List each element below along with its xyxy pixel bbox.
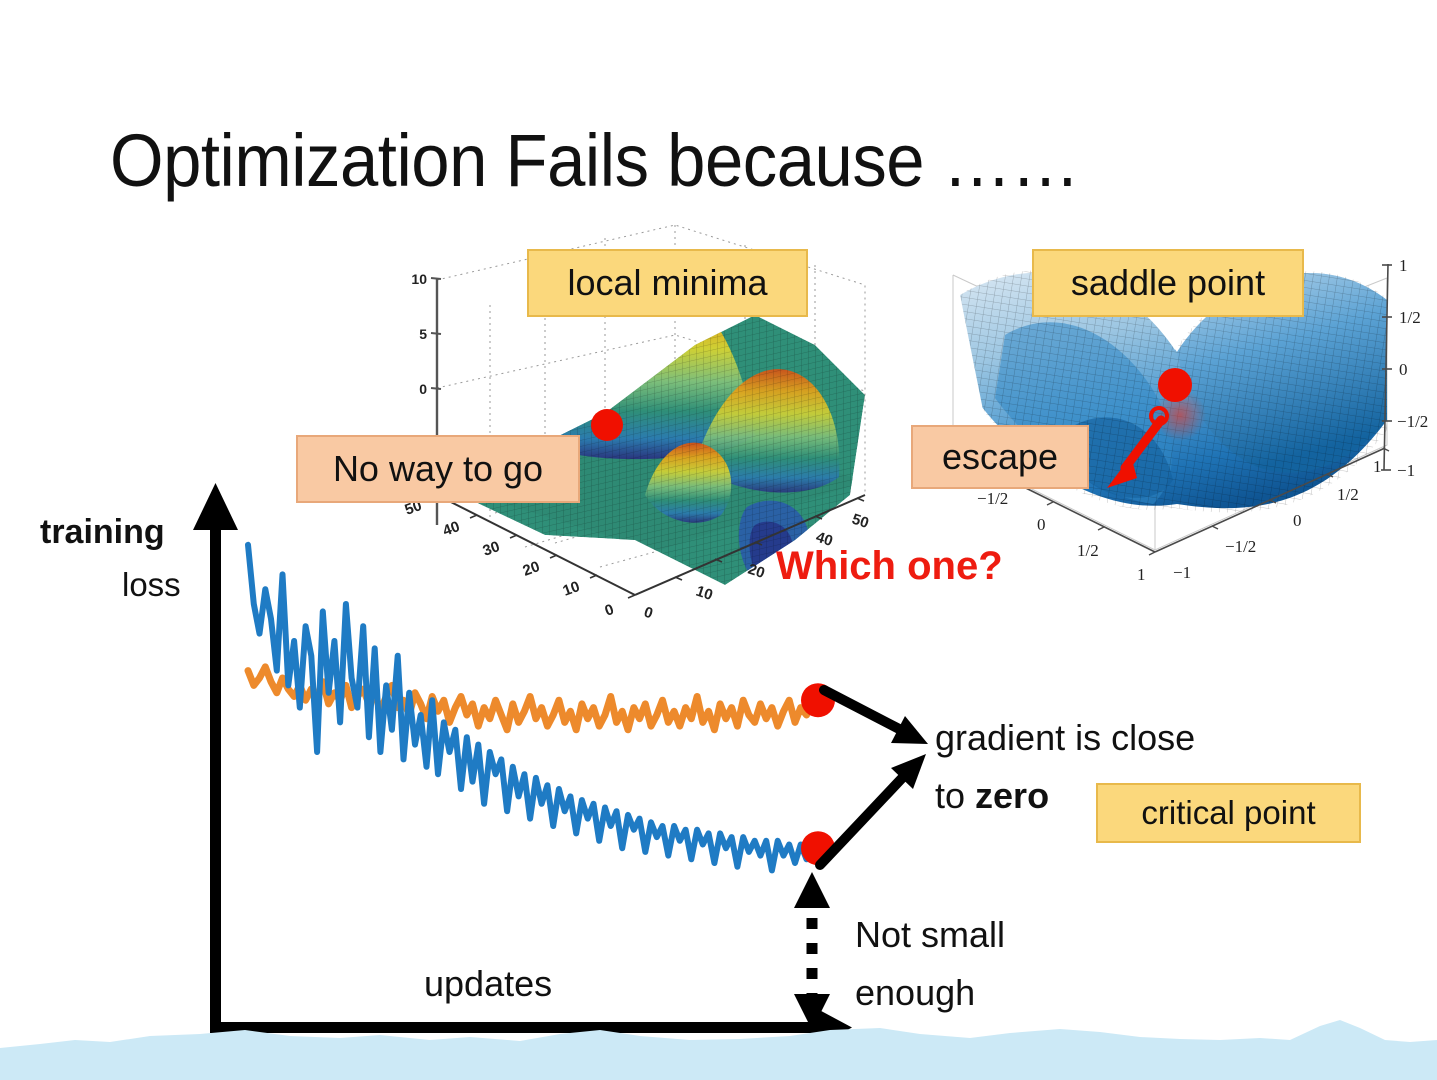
svg-text:20: 20 xyxy=(521,558,542,580)
y-axis-arrow xyxy=(193,483,238,1033)
svg-text:1: 1 xyxy=(1137,565,1146,584)
svg-text:−1: −1 xyxy=(1173,563,1191,582)
svg-text:−1/2: −1/2 xyxy=(1225,537,1256,556)
svg-text:0: 0 xyxy=(603,601,617,620)
x-axis-label-updates: updates xyxy=(424,963,552,1005)
callout-no-way-to-go: No way to go xyxy=(296,435,580,503)
svg-text:1/2: 1/2 xyxy=(1399,308,1421,327)
z-tick-labels: 1050 xyxy=(411,271,427,397)
svg-text:0: 0 xyxy=(419,381,427,397)
page-title: Optimization Fails because …… xyxy=(110,118,1245,203)
annotation-to-prefix: to xyxy=(935,775,975,816)
red-dot-marker xyxy=(1158,368,1192,402)
y-axis-label-training: training xyxy=(40,513,165,552)
svg-text:−1: −1 xyxy=(1397,461,1415,480)
critical-point-dot-orange xyxy=(801,683,835,717)
slide-canvas: Optimization Fails because …… xyxy=(0,0,1437,1080)
red-dot-marker xyxy=(591,409,623,441)
z-tick-labels: 1 1/2 0 −1/2 −1 xyxy=(1397,256,1428,480)
svg-text:1: 1 xyxy=(1399,256,1408,275)
annotation-not-small-line1: Not small xyxy=(855,914,1005,956)
annotation-arrow-orange xyxy=(824,690,928,744)
annotation-arrow-blue xyxy=(820,754,926,865)
svg-text:5: 5 xyxy=(419,326,427,342)
y-axis-label-loss: loss xyxy=(122,566,181,604)
svg-text:1: 1 xyxy=(1373,457,1382,476)
not-small-enough-arrow xyxy=(794,872,830,1030)
svg-text:40: 40 xyxy=(441,518,462,540)
svg-text:10: 10 xyxy=(561,578,582,600)
bottom-wave-decoration xyxy=(0,1020,1437,1080)
svg-text:1/2: 1/2 xyxy=(1337,485,1359,504)
svg-text:0: 0 xyxy=(642,604,655,623)
svg-text:10: 10 xyxy=(411,271,427,287)
annotation-gradient-line1: gradient is close xyxy=(935,717,1195,759)
callout-local-minima: local minima xyxy=(527,249,808,317)
loss-curve-orange xyxy=(248,667,818,730)
svg-text:0: 0 xyxy=(1037,515,1046,534)
annotation-not-small-line2: enough xyxy=(855,972,975,1014)
annotation-gradient-line2: to zero xyxy=(935,775,1049,817)
annotation-zero-bold: zero xyxy=(975,775,1049,816)
svg-text:10: 10 xyxy=(694,583,715,604)
svg-text:1/2: 1/2 xyxy=(1077,541,1099,560)
svg-text:−1/2: −1/2 xyxy=(1397,412,1428,431)
which-one-question: Which one? xyxy=(776,544,1003,589)
svg-text:30: 30 xyxy=(481,538,502,560)
callout-saddle-point: saddle point xyxy=(1032,249,1304,317)
callout-escape: escape xyxy=(911,425,1089,489)
svg-text:0: 0 xyxy=(1399,360,1408,379)
callout-critical-point: critical point xyxy=(1096,783,1361,843)
critical-point-dot-blue xyxy=(801,831,835,865)
svg-text:−1/2: −1/2 xyxy=(977,489,1008,508)
svg-text:0: 0 xyxy=(1293,511,1302,530)
svg-text:50: 50 xyxy=(850,511,871,532)
